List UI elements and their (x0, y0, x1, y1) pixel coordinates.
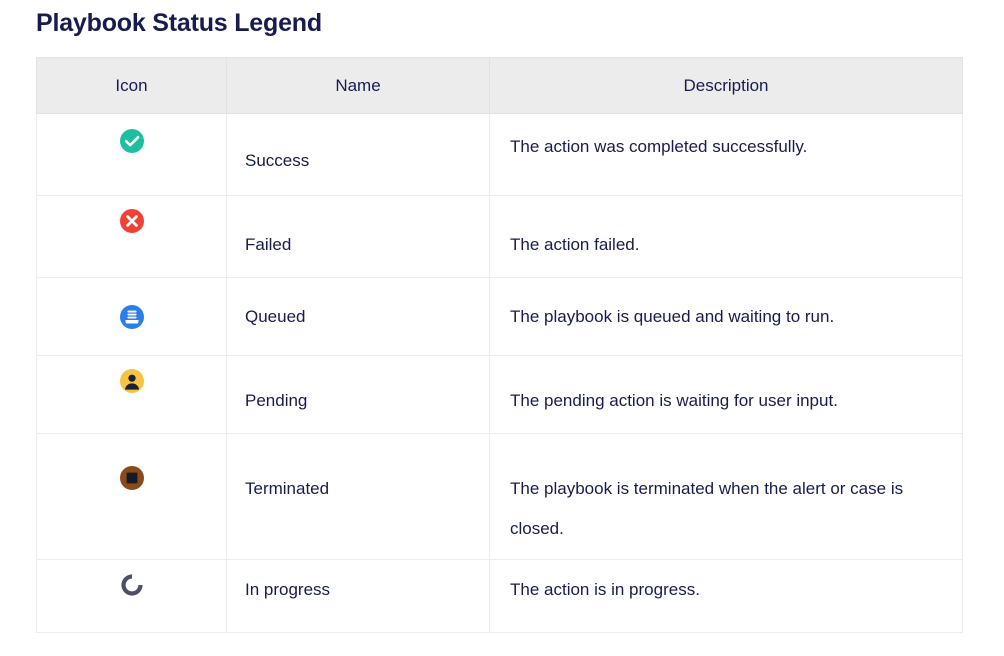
table-row: Terminated The playbook is terminated wh… (37, 434, 963, 560)
table-row: Pending The pending action is waiting fo… (37, 356, 963, 434)
status-description-cell: The pending action is waiting for user i… (490, 356, 963, 434)
status-name-cell: Failed (227, 196, 490, 278)
status-icon-cell (37, 560, 227, 633)
status-icon-cell (37, 196, 227, 278)
table-body: Success The action was completed success… (37, 114, 963, 633)
status-description-cell: The action was completed successfully. (490, 114, 963, 196)
table-header: Icon Name Description (37, 58, 963, 114)
playbook-status-legend-page: Playbook Status Legend Icon Name Descrip… (0, 0, 1004, 656)
status-description-cell: The playbook is queued and waiting to ru… (490, 278, 963, 356)
success-check-circle-icon (119, 128, 145, 154)
status-name-cell: Success (227, 114, 490, 196)
status-name-cell: Terminated (227, 434, 490, 560)
column-header-description: Description (490, 58, 963, 114)
terminated-stop-square-circle-icon (119, 465, 145, 491)
status-icon-cell (37, 278, 227, 356)
in-progress-spinner-icon (119, 572, 145, 598)
table-row: Failed The action failed. (37, 196, 963, 278)
status-icon-cell (37, 434, 227, 560)
page-title: Playbook Status Legend (36, 0, 968, 40)
status-description-cell: The action failed. (490, 196, 963, 278)
table-row: Queued The playbook is queued and waitin… (37, 278, 963, 356)
status-name-cell: Pending (227, 356, 490, 434)
status-legend-table: Icon Name Description Success The action… (36, 57, 963, 633)
column-header-icon: Icon (37, 58, 227, 114)
failed-x-circle-icon (119, 208, 145, 234)
table-row: Success The action was completed success… (37, 114, 963, 196)
status-description-cell: The playbook is terminated when the aler… (490, 434, 963, 560)
status-name-cell: Queued (227, 278, 490, 356)
pending-user-circle-icon (119, 368, 145, 394)
status-icon-cell (37, 356, 227, 434)
column-header-name: Name (227, 58, 490, 114)
table-header-row: Icon Name Description (37, 58, 963, 114)
status-description-cell: The action is in progress. (490, 560, 963, 633)
table-row: In progress The action is in progress. (37, 560, 963, 633)
status-icon-cell (37, 114, 227, 196)
status-name-cell: In progress (227, 560, 490, 633)
queued-tray-circle-icon (119, 304, 145, 330)
